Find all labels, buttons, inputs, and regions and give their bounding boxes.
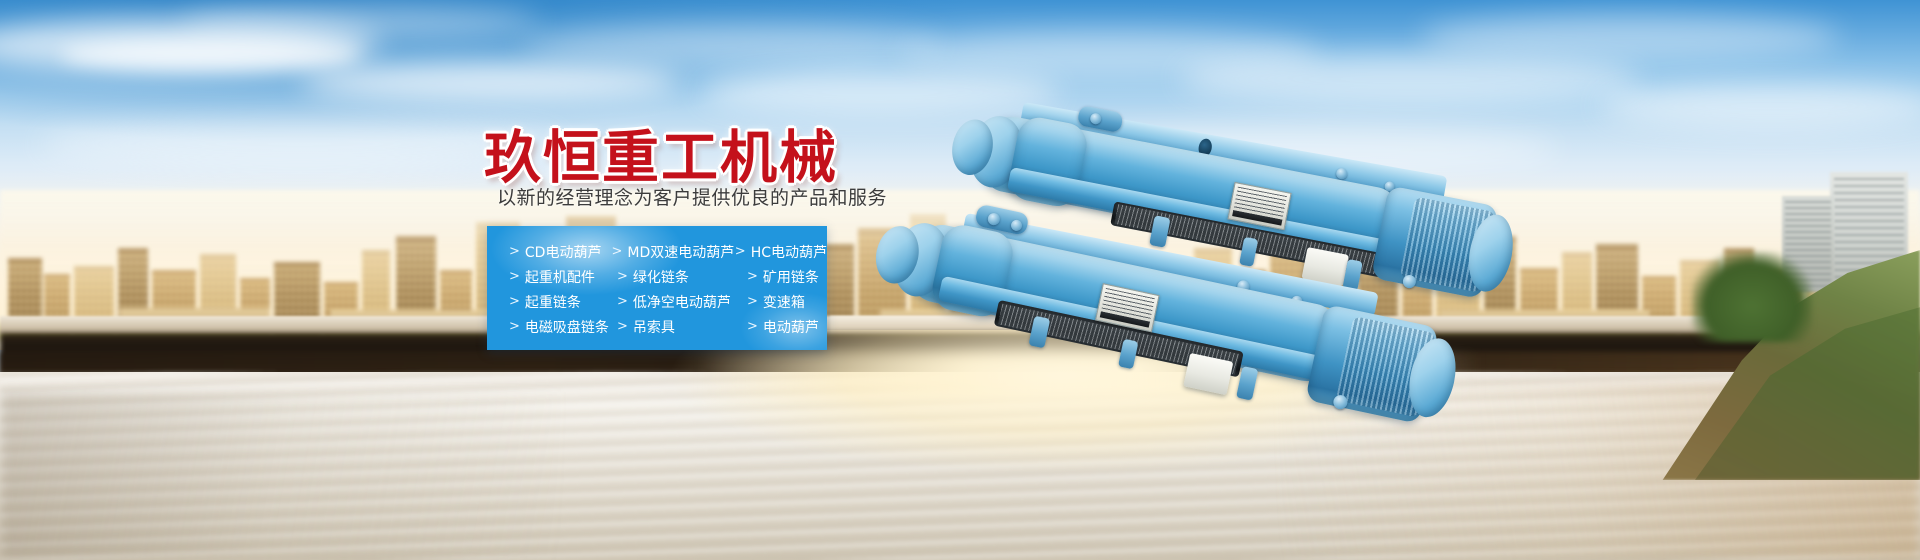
product-link-label: MD双速电动葫芦 <box>627 242 734 262</box>
product-image-hoists <box>860 40 1560 440</box>
company-slogan: 以新的经营理念为客户提供优良的产品和服务 <box>497 183 887 210</box>
chevron-right-icon: > <box>617 269 628 284</box>
product-link-label: 矿用链条 <box>763 267 819 287</box>
chevron-right-icon: > <box>617 319 628 334</box>
product-link-label: CD电动葫芦 <box>525 242 602 262</box>
product-link[interactable]: >电动葫芦 <box>747 317 819 337</box>
product-link[interactable]: >起重机配件 <box>487 267 617 287</box>
product-category-panel: >CD电动葫芦>MD双速电动葫芦>HC电动葫芦>起重机配件>绿化链条>矿用链条>… <box>487 226 827 350</box>
chevron-right-icon: > <box>747 319 758 334</box>
chevron-right-icon: > <box>509 244 520 259</box>
product-link-label: 变速箱 <box>763 292 805 312</box>
product-link[interactable]: >MD双速电动葫芦 <box>611 242 734 262</box>
roadside-tree <box>1692 252 1812 342</box>
product-link[interactable]: >变速箱 <box>747 292 805 312</box>
product-link[interactable]: >起重链条 <box>487 292 617 312</box>
chevron-right-icon: > <box>509 294 520 309</box>
chevron-right-icon: > <box>735 244 746 259</box>
product-link-label: 电动葫芦 <box>763 317 819 337</box>
product-category-list: >CD电动葫芦>MD双速电动葫芦>HC电动葫芦>起重机配件>绿化链条>矿用链条>… <box>487 226 827 339</box>
road-left-shading <box>0 392 560 560</box>
product-link[interactable]: >CD电动葫芦 <box>487 242 611 262</box>
product-link[interactable]: >HC电动葫芦 <box>735 242 827 262</box>
product-row: >CD电动葫芦>MD双速电动葫芦>HC电动葫芦 <box>487 239 827 264</box>
chevron-right-icon: > <box>617 294 628 309</box>
product-link[interactable]: >低净空电动葫芦 <box>617 292 747 312</box>
company-title: 玖恒重工机械 <box>484 112 838 194</box>
product-link[interactable]: >电磁吸盘链条 <box>487 317 617 337</box>
product-link[interactable]: >绿化链条 <box>617 267 747 287</box>
product-link[interactable]: >矿用链条 <box>747 267 819 287</box>
product-link-label: 绿化链条 <box>633 267 689 287</box>
hero-banner: 玖恒重工机械 以新的经营理念为客户提供优良的产品和服务 >CD电动葫芦>MD双速… <box>0 0 1920 560</box>
product-link-label: 吊索具 <box>633 317 675 337</box>
product-link[interactable]: >吊索具 <box>617 317 747 337</box>
product-link-label: HC电动葫芦 <box>751 242 827 262</box>
chevron-right-icon: > <box>747 269 758 284</box>
chevron-right-icon: > <box>611 244 622 259</box>
product-link-label: 起重机配件 <box>525 267 595 287</box>
chevron-right-icon: > <box>509 319 520 334</box>
product-link-label: 电磁吸盘链条 <box>525 317 609 337</box>
product-row: >起重链条>低净空电动葫芦>变速箱 <box>487 289 827 314</box>
product-link-label: 低净空电动葫芦 <box>633 292 731 312</box>
product-link-label: 起重链条 <box>525 292 581 312</box>
chevron-right-icon: > <box>509 269 520 284</box>
product-row: >电磁吸盘链条>吊索具>电动葫芦 <box>487 314 827 339</box>
chevron-right-icon: > <box>747 294 758 309</box>
product-row: >起重机配件>绿化链条>矿用链条 <box>487 264 827 289</box>
